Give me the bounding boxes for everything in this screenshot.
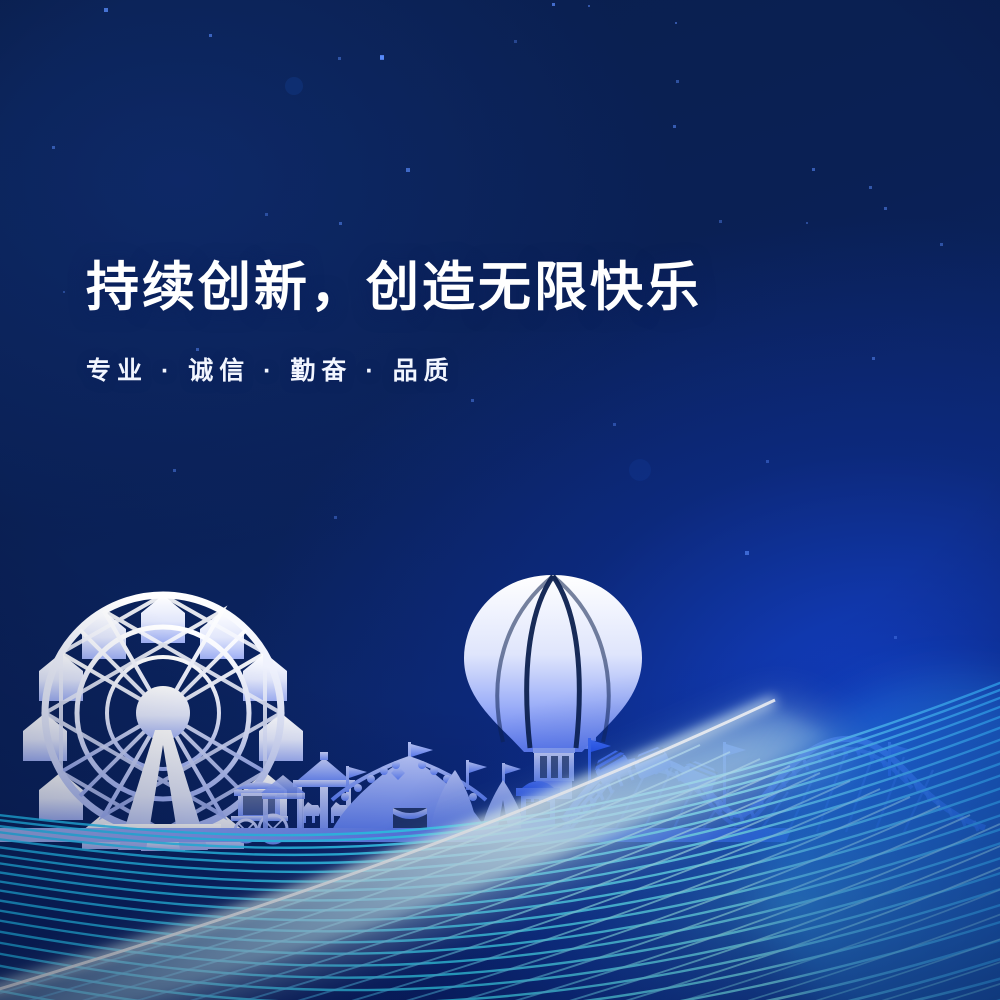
- text-block: 持续创新，创造无限快乐 专业 · 诚信 · 勤奋 · 品质: [86, 258, 906, 387]
- vignette-overlay: [0, 0, 1000, 1000]
- page-subtitle: 专业 · 诚信 · 勤奋 · 品质: [86, 351, 906, 387]
- poster-canvas: 持续创新，创造无限快乐 专业 · 诚信 · 勤奋 · 品质: [0, 0, 1000, 1000]
- page-title: 持续创新，创造无限快乐: [86, 258, 906, 317]
